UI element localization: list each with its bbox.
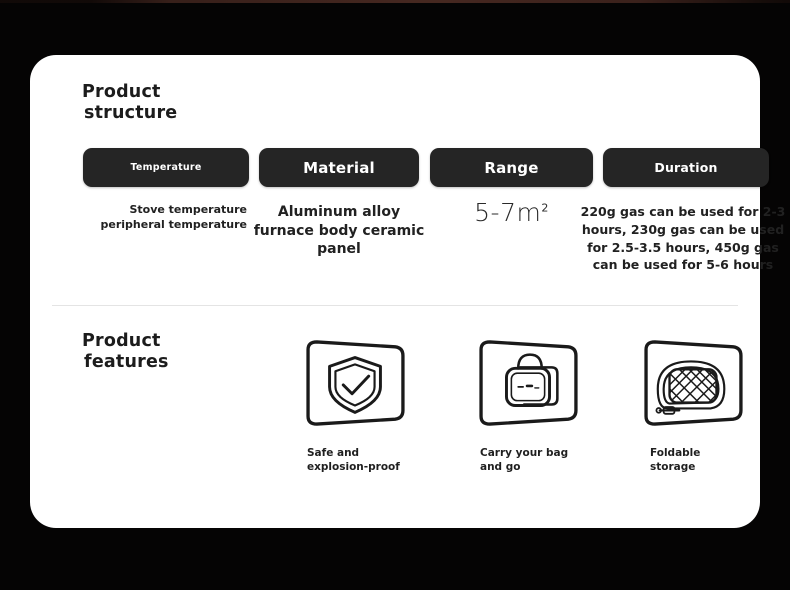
range-value: 5-7m <box>474 198 541 227</box>
pill-material[interactable]: Material <box>259 148 419 187</box>
structure-value-duration: 220g gas can be used for 2-3 hours, 230g… <box>577 203 789 274</box>
carry-bag-icon <box>468 338 588 428</box>
product-features-items: Safe and explosion-proof <box>30 338 760 513</box>
top-edge-hairline <box>0 0 790 3</box>
structure-column-temperature: Temperature Stove temperature peripheral… <box>83 148 249 232</box>
product-info-card: Product structure Temperature Stove temp… <box>30 55 760 528</box>
feature-caption-foldable-line2: storage <box>650 461 695 473</box>
feature-item-foldable: Foldable storage <box>608 338 783 475</box>
feature-caption-safe: Safe and explosion-proof <box>307 446 440 475</box>
pill-duration[interactable]: Duration <box>603 148 769 187</box>
product-structure-columns: Temperature Stove temperature peripheral… <box>30 148 760 308</box>
infographic-page: Product structure Temperature Stove temp… <box>0 0 790 590</box>
structure-column-duration: Duration 220g gas can be used for 2-3 ho… <box>603 148 769 274</box>
structure-value-material: Aluminum alloy furnace body ceramic pane… <box>246 203 432 259</box>
foldable-mesh-icon <box>633 338 753 428</box>
range-unit-exponent: 2 <box>541 202 549 215</box>
pill-range[interactable]: Range <box>430 148 593 187</box>
structure-heading-line1: Product <box>82 82 161 102</box>
feature-caption-safe-line2: explosion-proof <box>307 461 400 473</box>
section-divider <box>52 305 738 306</box>
shield-check-icon <box>295 338 415 428</box>
product-structure-heading: Product structure <box>82 82 177 125</box>
feature-caption-carry-line2: and go <box>480 461 520 473</box>
structure-column-range: Range 5-7m2 <box>430 148 593 227</box>
structure-heading-line2: structure <box>82 103 177 124</box>
feature-caption-foldable-line1: Foldable <box>650 447 700 459</box>
pill-temperature[interactable]: Temperature <box>83 148 249 187</box>
structure-column-material: Material Aluminum alloy furnace body cer… <box>259 148 419 259</box>
feature-item-safe: Safe and explosion-proof <box>265 338 440 475</box>
feature-caption-carry: Carry your bag and go <box>480 446 613 475</box>
structure-value-range: 5-7m2 <box>430 198 593 227</box>
feature-item-carry: Carry your bag and go <box>438 338 613 475</box>
feature-caption-carry-line1: Carry your bag <box>480 447 568 459</box>
feature-caption-foldable: Foldable storage <box>650 446 783 475</box>
feature-caption-safe-line1: Safe and <box>307 447 359 459</box>
structure-value-temperature: Stove temperature peripheral temperature <box>83 203 249 232</box>
